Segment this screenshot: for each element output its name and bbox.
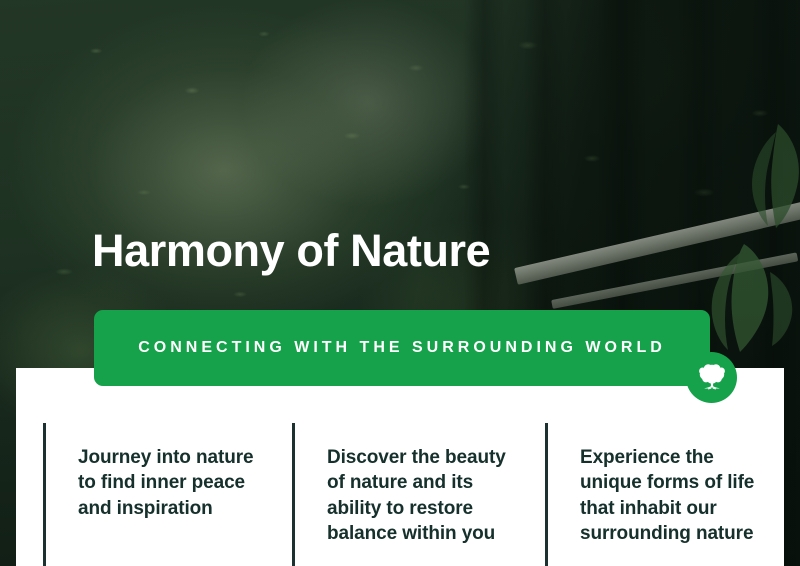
feature-column-2-text: Discover the beauty of nature and its ab… [327, 445, 522, 547]
tree-icon [695, 361, 729, 395]
poster-canvas: Harmony of Nature CONNECTING WITH THE SU… [0, 0, 800, 566]
feature-columns: Journey into nature to find inner peace … [0, 423, 800, 566]
feature-column-2: Discover the beauty of nature and its ab… [292, 423, 522, 566]
feature-column-1: Journey into nature to find inner peace … [43, 423, 273, 566]
feature-column-3: Experience the unique forms of life that… [545, 423, 775, 566]
page-title: Harmony of Nature [92, 228, 490, 273]
tree-logo-badge [686, 352, 737, 403]
feature-column-3-text: Experience the unique forms of life that… [580, 445, 775, 547]
subtitle-banner-text: CONNECTING WITH THE SURROUNDING WORLD [138, 339, 666, 357]
subtitle-banner: CONNECTING WITH THE SURROUNDING WORLD [94, 310, 710, 386]
feature-column-1-text: Journey into nature to find inner peace … [78, 445, 273, 521]
